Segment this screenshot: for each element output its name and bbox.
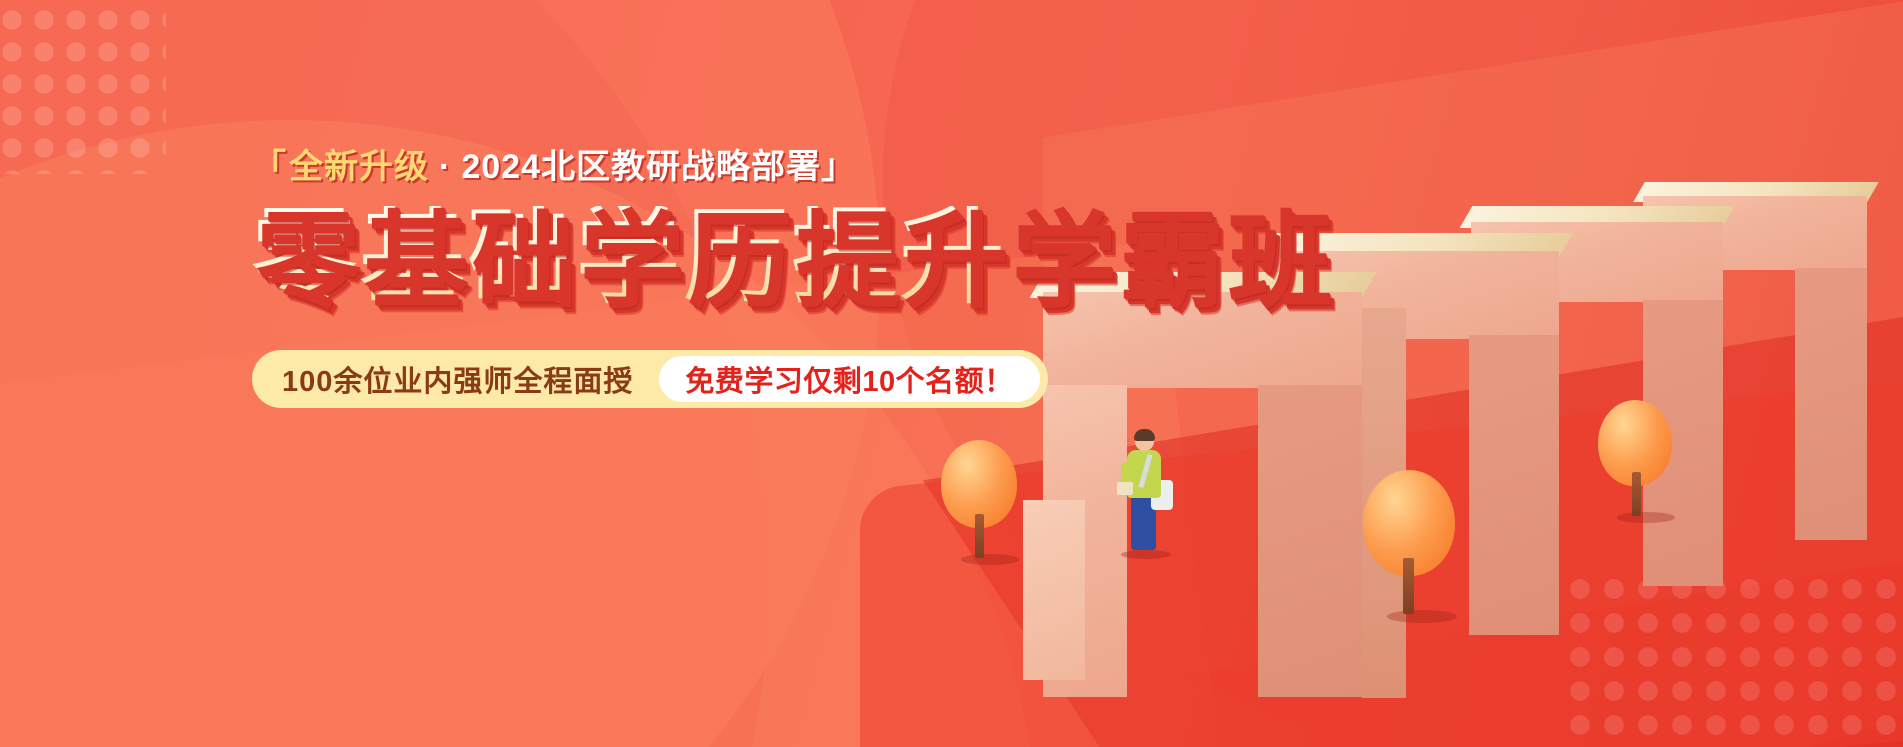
book-icon — [1117, 482, 1133, 495]
highlight-pill[interactable]: 100余位业内强师全程面授 免费学习仅剩10个名额！ — [252, 350, 1048, 408]
tree-shadow — [961, 554, 1019, 565]
small-pillar — [1023, 500, 1085, 680]
tree-icon-1 — [935, 440, 1023, 570]
pill-left-label: 100余位业内强师全程面授 — [282, 358, 659, 400]
subtitle-gold-text: 全新升级 — [289, 150, 429, 184]
tree-icon-2 — [1357, 470, 1461, 630]
tree-trunk — [975, 514, 984, 558]
subtitle-open-bracket: 「 — [252, 150, 287, 184]
subtitle-close-bracket: 」 — [821, 150, 856, 184]
banner-subtitle: 「 全新升级 · 2024北区教研战略部署 」 — [252, 150, 1012, 184]
illustration-scene — [1023, 0, 1903, 747]
arch-leg-right — [1469, 335, 1559, 635]
banner-title: 零基础学历提升学霸班 — [252, 206, 1012, 310]
tree-shadow — [1387, 610, 1457, 623]
subtitle-separator: · — [429, 150, 461, 184]
tree-shadow — [1617, 512, 1675, 523]
student-figure — [1113, 432, 1171, 558]
promo-banner: 「 全新升级 · 2024北区教研战略部署 」 零基础学历提升学霸班 100余位… — [0, 0, 1903, 747]
dot-grid-top-left-icon — [0, 4, 166, 174]
figure-hair — [1134, 429, 1155, 441]
pill-chip-label[interactable]: 免费学习仅剩10个名额！ — [659, 356, 1039, 402]
copy-block: 「 全新升级 · 2024北区教研战略部署 」 零基础学历提升学霸班 100余位… — [252, 150, 1012, 408]
tree-trunk — [1403, 558, 1414, 614]
arch-leg-right — [1258, 385, 1362, 697]
tree-icon-3 — [1593, 400, 1679, 530]
subtitle-white-text: 2024北区教研战略部署 — [461, 150, 821, 184]
arch-leg-right — [1795, 268, 1867, 540]
tree-trunk — [1632, 472, 1641, 516]
figure-shadow — [1121, 550, 1171, 559]
